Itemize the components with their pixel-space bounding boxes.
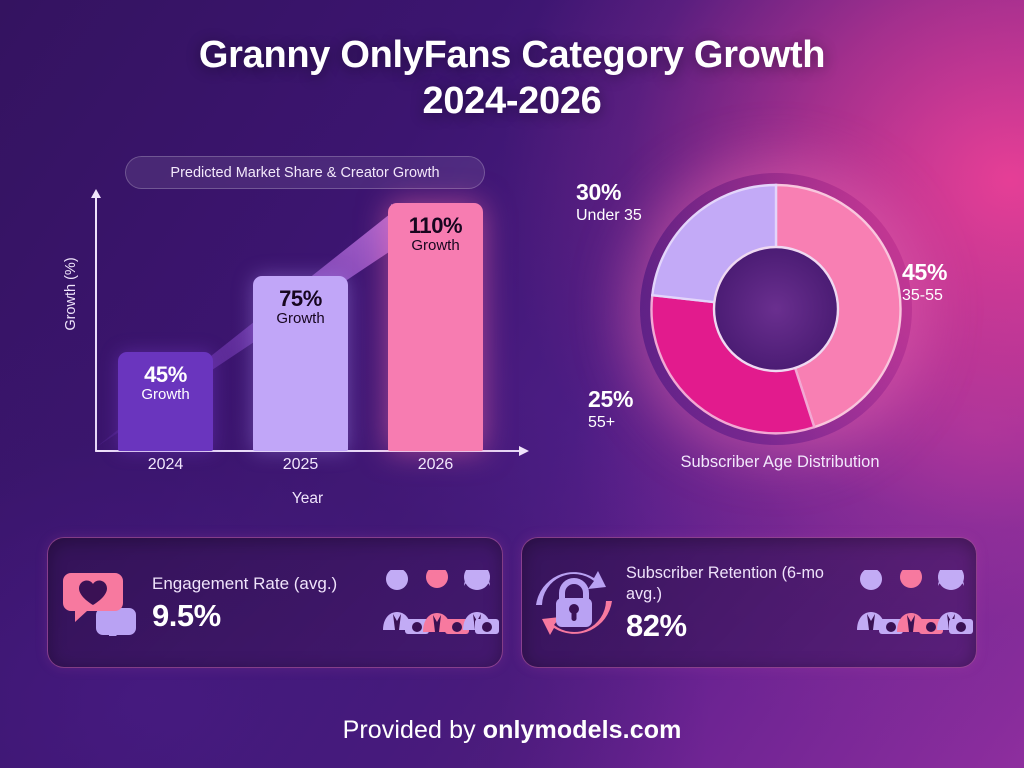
x-tick-2026: 2026 [388, 456, 483, 474]
donut-label-55-plus-text: 55+ [588, 412, 708, 434]
donut-caption: Subscriber Age Distribution [560, 453, 1000, 472]
stat-card-engagement[interactable]: Engagement Rate (avg.) 9.5% [47, 537, 503, 668]
donut-label-under-35: 30% Under 35 [576, 180, 706, 227]
y-axis-label: Growth (%) [63, 234, 79, 354]
x-tick-2024: 2024 [118, 456, 213, 474]
retention-value: 82% [626, 610, 846, 643]
badge-label: Predicted Market Share & Creator Growth [170, 165, 439, 181]
retention-text-block: Subscriber Retention (6-mo avg.) 82% [626, 563, 846, 643]
x-tick-2025: 2025 [253, 456, 348, 474]
footer-brand: onlymodels.com [483, 716, 682, 744]
bar-2025[interactable]: 75% Growth [253, 276, 348, 451]
bar-2026-sublabel: Growth [411, 237, 459, 256]
stat-card-retention[interactable]: Subscriber Retention (6-mo avg.) 82% [521, 537, 977, 668]
page-title: Granny OnlyFans Category Growth 2024-202… [0, 32, 1024, 125]
footer-attribution: Provided by onlymodels.com [0, 716, 1024, 745]
bar-2026-value: 110% [409, 214, 462, 237]
engagement-value: 9.5% [152, 600, 372, 633]
bar-group: 45% Growth 75% Growth 110% Growth [95, 190, 520, 451]
three-creators-with-cameras-icon [846, 570, 976, 636]
infographic-canvas: Granny OnlyFans Category Growth 2024-202… [0, 0, 1024, 768]
chat-heart-icon [48, 570, 152, 636]
engagement-label: Engagement Rate (avg.) [152, 573, 372, 595]
bar-2025-value: 75% [279, 287, 322, 310]
donut-label-under-35-pct: 30% [576, 180, 706, 205]
donut-label-under-35-text: Under 35 [576, 205, 706, 227]
x-axis-ticks: 2024 2025 2026 [95, 456, 520, 480]
chart-subtitle-badge: Predicted Market Share & Creator Growth [125, 156, 485, 189]
engagement-text-block: Engagement Rate (avg.) 9.5% [152, 573, 372, 633]
bar-2024-sublabel: Growth [141, 386, 189, 405]
retention-label: Subscriber Retention (6-mo avg.) [626, 563, 846, 605]
growth-bar-chart: Growth (%) 45% Growth 75% Growth 110% Gr… [55, 190, 545, 510]
bar-2024-value: 45% [144, 363, 187, 386]
x-axis-label: Year [95, 490, 520, 508]
three-creators-with-cameras-icon [372, 570, 502, 636]
donut-label-55-plus: 25% 55+ [588, 387, 708, 434]
donut-label-35-55-pct: 45% [902, 260, 1022, 285]
bar-2024[interactable]: 45% Growth [118, 352, 213, 451]
donut-label-35-55-text: 35-55 [902, 285, 1022, 307]
title-line-1: Granny OnlyFans Category Growth [199, 34, 825, 76]
title-line-2: 2024-2026 [0, 78, 1024, 124]
age-distribution-donut-chart: 30% Under 35 45% 35-55 25% 55+ Subscribe… [560, 165, 1000, 485]
retention-lock-refresh-icon [522, 565, 626, 641]
bar-2025-sublabel: Growth [276, 310, 324, 329]
donut-label-55-plus-pct: 25% [588, 387, 708, 412]
bar-2026[interactable]: 110% Growth [388, 203, 483, 451]
footer-prefix: Provided by [343, 716, 483, 744]
donut-label-35-55: 45% 35-55 [902, 260, 1022, 307]
